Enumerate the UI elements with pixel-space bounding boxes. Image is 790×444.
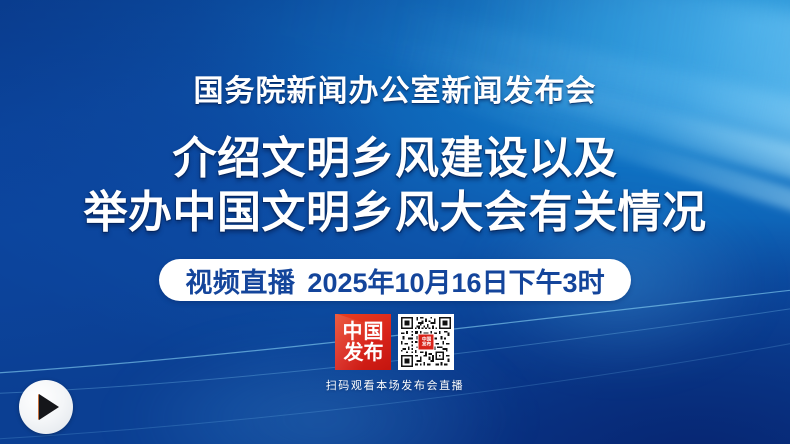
live-badge-label: 视频直播 [185, 261, 295, 300]
live-schedule-badge: 视频直播 2025年10月16日下午3时 [159, 259, 630, 301]
event-headline: 介绍文明乡风建设以及 举办中国文明乡风大会有关情况 [84, 132, 707, 239]
livestream-poster: 国务院新闻办公室新闻发布会 介绍文明乡风建设以及 举办中国文明乡风大会有关情况 … [0, 0, 790, 444]
live-badge-datetime: 2025年10月16日下午3时 [307, 261, 604, 300]
scan-row: 中国 发布 [335, 314, 454, 370]
scan-caption: 扫码观看本场发布会直播 [326, 377, 465, 393]
event-organizer-title: 国务院新闻办公室新闻发布会 [194, 66, 597, 110]
qr-code[interactable]: 中国 发布 [398, 314, 454, 370]
logo-text-top: 中国 [342, 322, 384, 342]
play-button[interactable] [19, 380, 73, 434]
qr-center-logo: 中国 发布 [418, 334, 435, 351]
play-icon [39, 394, 59, 420]
scan-block: 中国 发布 [326, 314, 465, 393]
logo-text-bottom: 发布 [343, 343, 383, 363]
china-release-logo: 中国 发布 [335, 314, 391, 370]
event-headline-line-1: 介绍文明乡风建设以及 [84, 132, 707, 186]
poster-content: 国务院新闻办公室新闻发布会 介绍文明乡风建设以及 举办中国文明乡风大会有关情况 … [0, 0, 790, 444]
event-headline-line-2: 举办中国文明乡风大会有关情况 [84, 186, 707, 240]
qr-center-text-bottom: 发布 [422, 342, 432, 347]
